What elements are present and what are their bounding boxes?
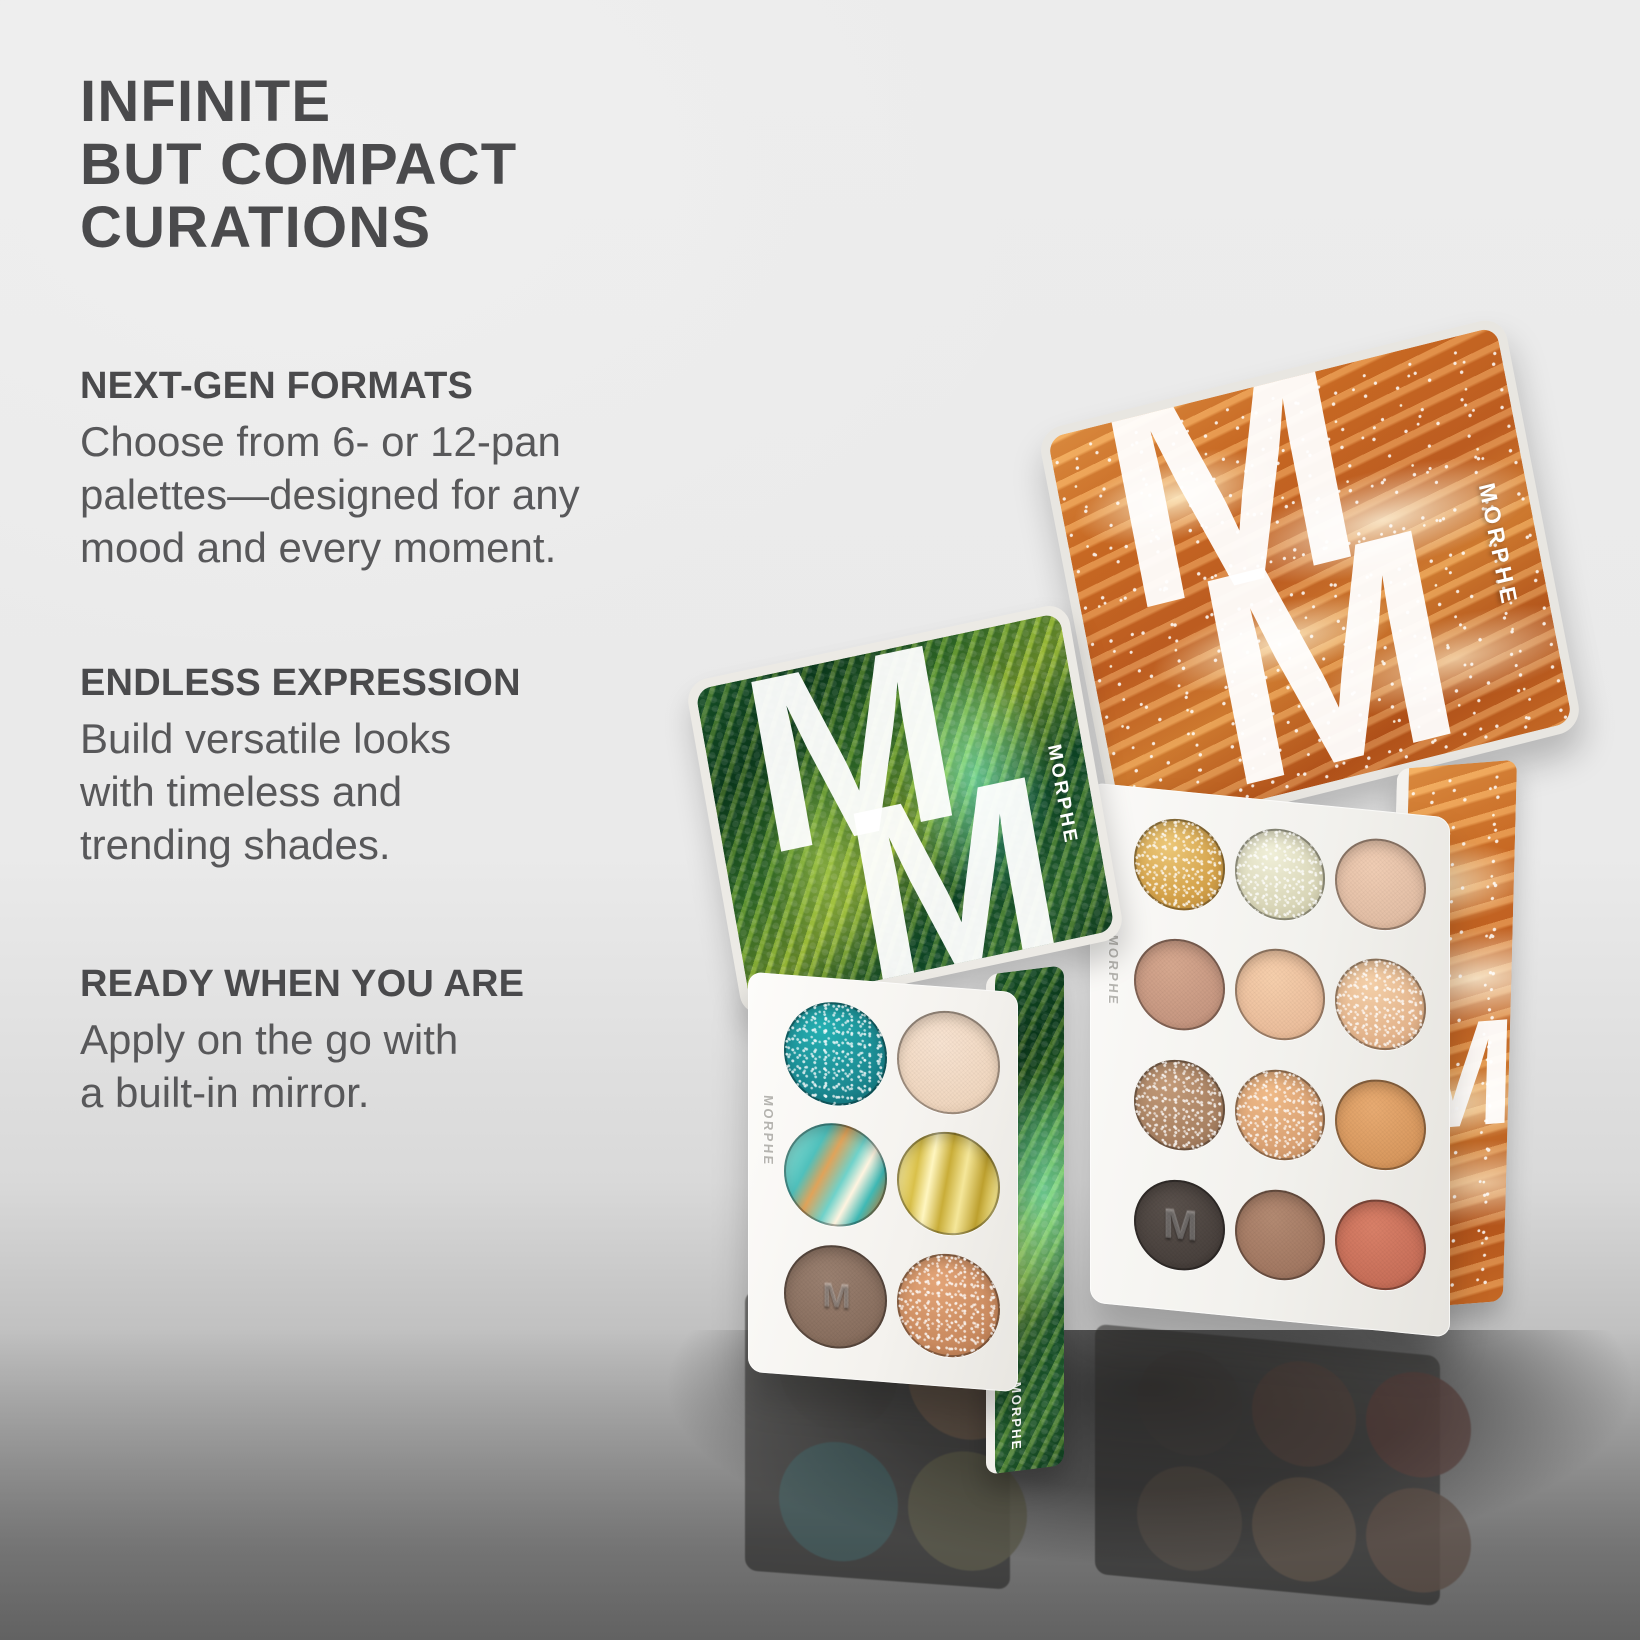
morphe-m-logo-emboss: M	[1134, 1175, 1225, 1275]
pan-warm-taupe[interactable]	[1134, 935, 1225, 1035]
pan-champagne-glitter[interactable]	[1235, 825, 1326, 925]
pan-grid-6: M	[784, 998, 1000, 1367]
pan-cream-nude[interactable]	[897, 1007, 1000, 1118]
page-title: INFINITE BUT COMPACT CURATIONS	[80, 70, 780, 260]
lid-artwork-green: M M MORPHE	[695, 613, 1115, 1008]
feature-body: Apply on the go with a built-in mirror.	[80, 1014, 720, 1120]
pan-rose-gold-glitter[interactable]	[1335, 955, 1426, 1055]
feature-next-gen-formats: NEXT-GEN FORMATS Choose from 6- or 12-pa…	[80, 365, 780, 575]
morphe-brand-emboss: MORPHE	[1106, 934, 1121, 1007]
palette-6-pan[interactable]: MORPHE M	[748, 972, 1018, 1393]
pan-taupe-brown-logo[interactable]: M	[784, 1241, 887, 1352]
pan-espresso-logo[interactable]: M	[1134, 1175, 1225, 1275]
lid-artwork-orange: M M MORPHE	[1047, 327, 1572, 834]
reflection-pan	[1252, 1472, 1357, 1586]
pan-cocoa-brown[interactable]	[1235, 1185, 1326, 1285]
morphe-brand-emboss: MORPHE	[761, 1095, 776, 1168]
feature-endless-expression: ENDLESS EXPRESSION Build versatile looks…	[80, 662, 700, 872]
pan-grid-12: M	[1134, 815, 1426, 1314]
pan-bronze-shimmer[interactable]	[1134, 1055, 1225, 1155]
morphe-brand-label: MORPHE	[1009, 1381, 1024, 1452]
feature-ready-when-you-are: READY WHEN YOU ARE Apply on the go with …	[80, 963, 720, 1120]
feature-title: NEXT-GEN FORMATS	[80, 365, 780, 408]
reflection-pan-grid	[1137, 1346, 1415, 1592]
pan-light-peach[interactable]	[1235, 945, 1326, 1045]
pan-terracotta[interactable]	[1335, 1195, 1426, 1295]
morphe-m-logo-emboss: M	[784, 1241, 887, 1352]
feature-title: READY WHEN YOU ARE	[80, 963, 720, 1006]
snakeskin-texture	[695, 613, 1115, 1008]
pan-gold-glitter[interactable]	[1134, 815, 1225, 915]
reflection-pan	[1366, 1367, 1471, 1481]
palette-12-pan[interactable]: MORPHE M	[1090, 782, 1450, 1337]
product-banner: INFINITE BUT COMPACT CURATIONS NEXT-GEN …	[0, 0, 1640, 1640]
pan-gold-foil[interactable]	[897, 1128, 1000, 1239]
pan-soft-beige[interactable]	[1335, 834, 1426, 934]
pan-rose-copper-glitter[interactable]	[897, 1250, 1000, 1361]
product-group: M M MORPHE MORPHE MORPHE MORPHE	[690, 370, 1640, 1380]
pan-teal-glitter[interactable]	[784, 998, 887, 1109]
feature-body: Build versatile looks with timeless and …	[80, 713, 700, 872]
reflection-pan	[779, 1438, 898, 1566]
reflection-pan	[1366, 1483, 1471, 1597]
headline-block: INFINITE BUT COMPACT CURATIONS	[80, 70, 780, 260]
pan-aqua-copper-duo[interactable]	[784, 1120, 887, 1231]
palette-6-pan-lid[interactable]: M M MORPHE	[685, 602, 1126, 1018]
reflection-pan	[1137, 1461, 1242, 1575]
feature-body: Choose from 6- or 12-pan palettes—design…	[80, 416, 780, 575]
feature-title: ENDLESS EXPRESSION	[80, 662, 700, 705]
pan-copper-glitter[interactable]	[1235, 1065, 1326, 1165]
pan-amber-matte[interactable]	[1335, 1075, 1426, 1175]
